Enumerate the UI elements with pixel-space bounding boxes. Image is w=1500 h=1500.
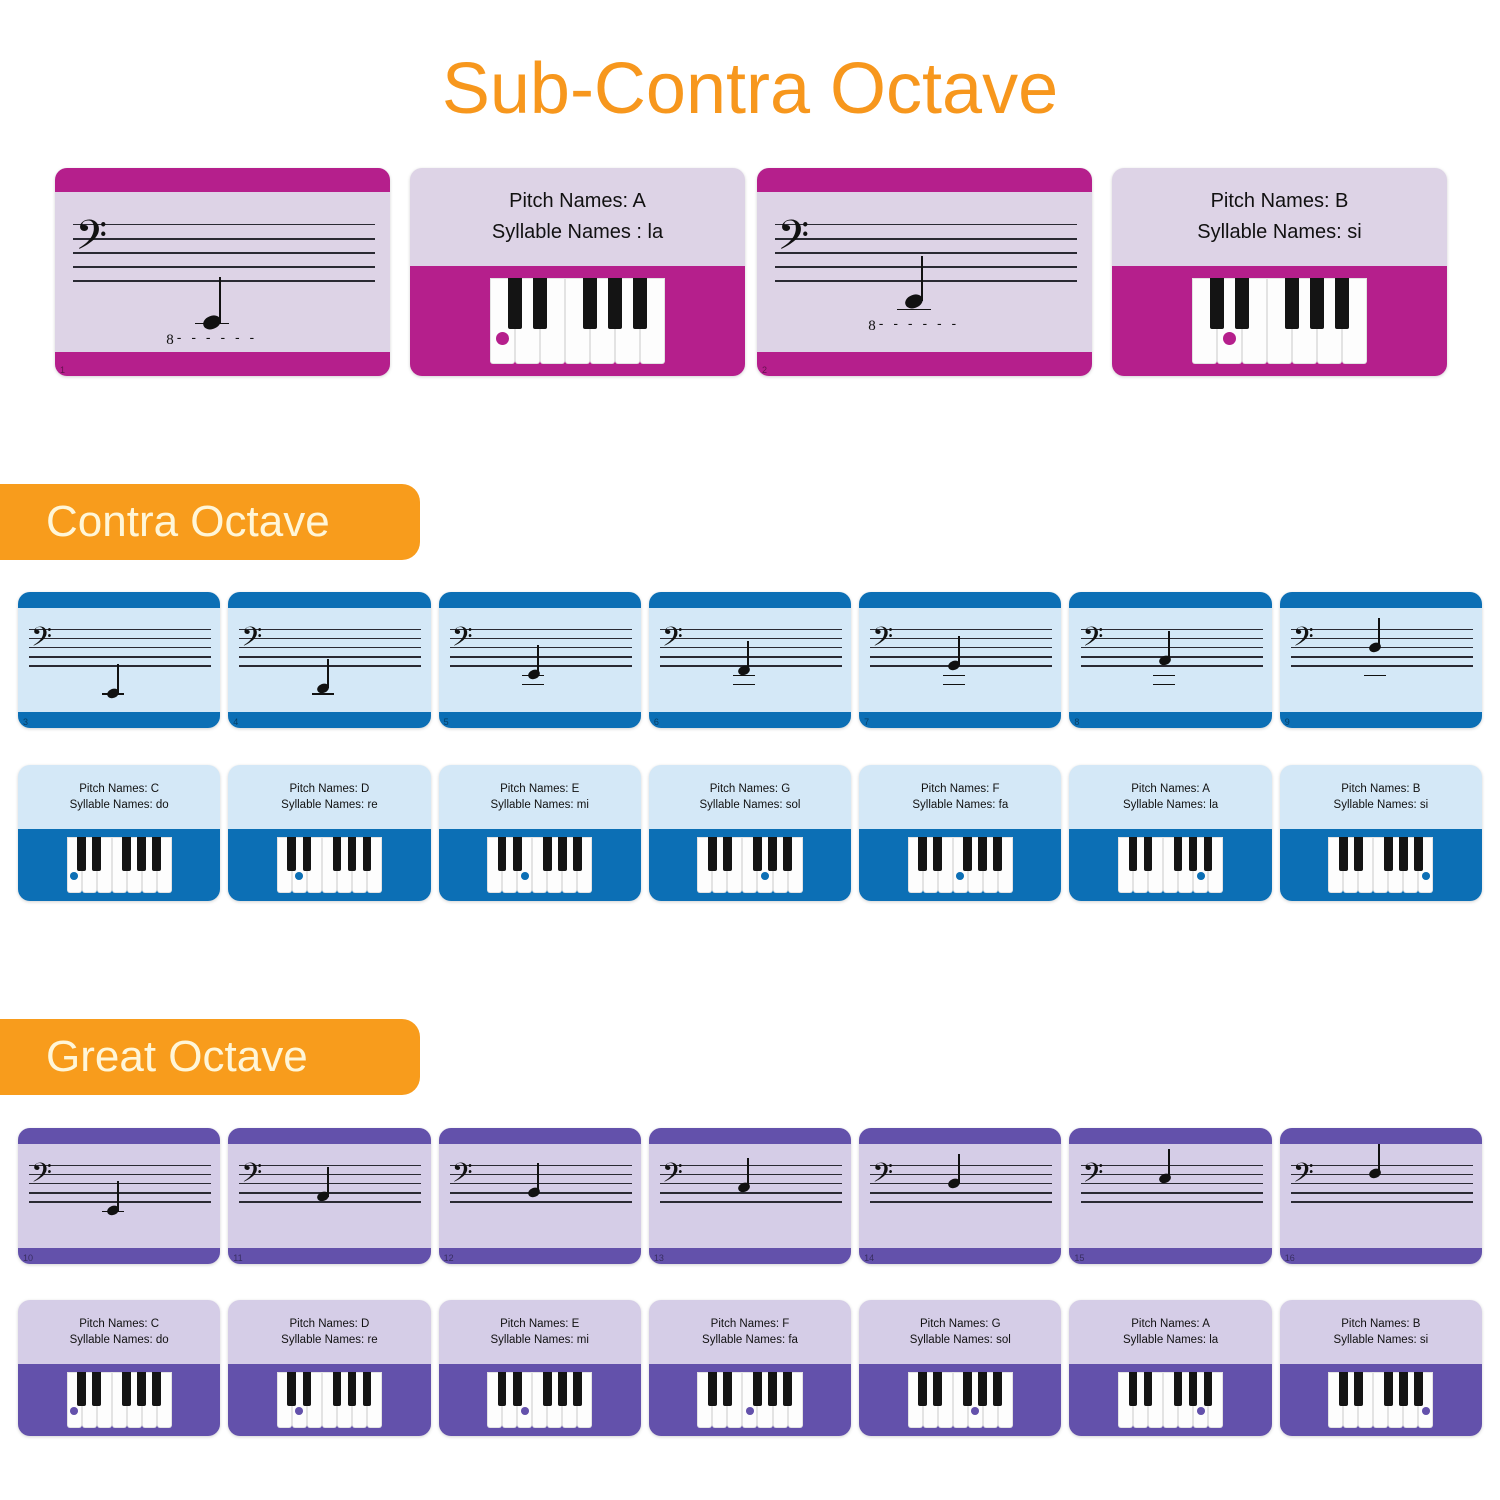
black-key[interactable] xyxy=(543,1372,552,1406)
pitch-names-line: Pitch Names: E xyxy=(500,1318,579,1330)
staff-line xyxy=(450,656,632,658)
card-band-bottom: 6 xyxy=(649,712,851,728)
section-banner-great: Great Octave xyxy=(0,1019,420,1095)
black-key[interactable] xyxy=(608,278,622,330)
piano-keyboard xyxy=(1328,1372,1433,1428)
black-key[interactable] xyxy=(1210,278,1224,330)
black-key[interactable] xyxy=(348,1372,357,1406)
pitch-card[interactable]: Pitch Names: FSyllable Names: fa xyxy=(859,765,1061,901)
pitch-names-line: Pitch Names: G xyxy=(710,783,791,795)
pitch-card[interactable]: Pitch Names: FSyllable Names: fa xyxy=(649,1300,851,1436)
pitch-card[interactable]: Pitch Names: BSyllable Names: si xyxy=(1280,1300,1482,1436)
black-key[interactable] xyxy=(287,1372,296,1406)
black-key[interactable] xyxy=(1384,837,1393,871)
key-highlight-dot xyxy=(761,872,769,880)
piano-keyboard xyxy=(1192,278,1366,364)
note-stem xyxy=(117,1181,119,1210)
black-key[interactable] xyxy=(768,837,777,871)
staff-card[interactable]: 𝄢6 xyxy=(649,592,851,728)
black-key[interactable] xyxy=(152,837,161,871)
keyboard-area xyxy=(18,829,220,901)
staff-area: 𝄢 xyxy=(18,1144,220,1249)
card-number: 16 xyxy=(1285,1254,1295,1263)
black-key[interactable] xyxy=(723,837,732,871)
note-stem xyxy=(117,664,119,693)
syllable-names-line: Syllable Names: sol xyxy=(910,1334,1011,1346)
card-band-top xyxy=(649,1128,851,1144)
pitch-text-area: Pitch Names: DSyllable Names: re xyxy=(228,1300,430,1364)
staff-line xyxy=(1081,1183,1263,1185)
staff-area: 𝄢 xyxy=(439,1144,641,1249)
pitch-card[interactable]: Pitch Names: ASyllable Names: la xyxy=(1069,1300,1271,1436)
syllable-names-line: Syllable Names: fa xyxy=(702,1334,798,1346)
staff-area: 𝄢 xyxy=(439,608,641,713)
pitch-text-area: Pitch Names: CSyllable Names: do xyxy=(18,1300,220,1364)
syllable-names-line: Syllable Names: si xyxy=(1197,221,1362,244)
pitch-names-line: Pitch Names: B xyxy=(1211,190,1349,213)
black-key[interactable] xyxy=(978,1372,987,1406)
staff-card[interactable]: 𝄢9 xyxy=(1280,592,1482,728)
ledger-line xyxy=(943,675,965,677)
black-key[interactable] xyxy=(1335,278,1349,330)
black-key[interactable] xyxy=(77,1372,86,1406)
pitch-text-area: Pitch Names: GSyllable Names: sol xyxy=(859,1300,1061,1364)
syllable-names-line: Syllable Names: re xyxy=(281,1334,378,1346)
black-key[interactable] xyxy=(753,1372,762,1406)
card-band-top xyxy=(18,592,220,608)
black-key[interactable] xyxy=(933,837,942,871)
black-key[interactable] xyxy=(1384,1372,1393,1406)
black-key[interactable] xyxy=(498,1372,507,1406)
card-band-top xyxy=(228,1128,430,1144)
bass-clef-icon: 𝄢 xyxy=(31,624,52,656)
staff-line xyxy=(870,1201,1052,1203)
syllable-names-line: Syllable Names: mi xyxy=(490,1334,588,1346)
music-staff: 𝄢 xyxy=(439,608,641,713)
ledger-line xyxy=(943,684,965,686)
staff-line xyxy=(660,1192,842,1194)
staff-card[interactable]: 𝄢16 xyxy=(1280,1128,1482,1264)
black-key[interactable] xyxy=(1354,837,1363,871)
staff-lines xyxy=(239,629,421,666)
piano-keyboard xyxy=(697,1372,802,1428)
syllable-names-line: Syllable Names: mi xyxy=(490,799,588,811)
black-key[interactable] xyxy=(1339,837,1348,871)
staff-line xyxy=(1291,665,1473,667)
pitch-text-area: Pitch Names: DSyllable Names: re xyxy=(228,765,430,829)
staff-lines xyxy=(660,1165,842,1202)
black-key[interactable] xyxy=(1285,278,1299,330)
black-key[interactable] xyxy=(1129,1372,1138,1406)
staff-line xyxy=(29,629,211,631)
pitch-card[interactable]: Pitch Names: ESyllable Names: mi xyxy=(439,1300,641,1436)
pitch-text-area: Pitch Names: BSyllable Names: si xyxy=(1280,765,1482,829)
pitch-names-line: Pitch Names: F xyxy=(921,783,1000,795)
pitch-names-line: Pitch Names: D xyxy=(289,1318,369,1330)
card-band-top xyxy=(1280,1128,1482,1144)
piano-keyboard xyxy=(490,278,664,364)
staff-lines xyxy=(1081,629,1263,666)
pitch-names-line: Pitch Names: C xyxy=(79,783,159,795)
staff-line xyxy=(29,1201,211,1203)
card-band-bottom: 11 xyxy=(228,1248,430,1264)
black-key[interactable] xyxy=(1235,278,1249,330)
bass-clef-icon: 𝄢 xyxy=(1293,624,1314,656)
black-key[interactable] xyxy=(1189,837,1198,871)
staff-line xyxy=(73,280,375,282)
card-band-bottom: 4 xyxy=(228,712,430,728)
section-banner-label: Great Octave xyxy=(46,1032,308,1082)
staff-line xyxy=(1291,638,1473,640)
ledger-line xyxy=(195,323,228,325)
pitch-card[interactable]: Pitch Names: DSyllable Names: re xyxy=(228,1300,430,1436)
keyboard-area xyxy=(649,1364,851,1436)
note-stem xyxy=(921,256,923,301)
staff-lines xyxy=(239,1165,421,1202)
music-staff: 𝄢 xyxy=(18,608,220,713)
ottava-marking: 8- - - - - - xyxy=(166,330,257,348)
ledger-line xyxy=(522,684,544,686)
note-stem xyxy=(327,659,329,688)
black-key[interactable] xyxy=(783,837,792,871)
black-key[interactable] xyxy=(1129,837,1138,871)
black-key[interactable] xyxy=(558,1372,567,1406)
staff-line xyxy=(775,280,1077,282)
bass-clef-icon: 𝄢 xyxy=(777,216,809,265)
black-key[interactable] xyxy=(1414,1372,1423,1406)
ottava-number: 8 xyxy=(166,332,174,348)
card-band-top xyxy=(439,1128,641,1144)
black-key[interactable] xyxy=(573,1372,582,1406)
note-stem xyxy=(1168,1149,1170,1178)
black-key[interactable] xyxy=(363,837,372,871)
black-key[interactable] xyxy=(287,837,296,871)
key-highlight-dot xyxy=(521,1407,529,1415)
staff-line xyxy=(660,647,842,649)
syllable-names-line: Syllable Names: si xyxy=(1334,1334,1429,1346)
pitch-card[interactable]: Pitch Names: GSyllable Names: sol xyxy=(649,765,851,901)
card-band-bottom: 14 xyxy=(859,1248,1061,1264)
black-key[interactable] xyxy=(723,1372,732,1406)
staff-line xyxy=(239,629,421,631)
key-highlight-dot xyxy=(70,1407,78,1415)
black-key[interactable] xyxy=(498,837,507,871)
staff-line xyxy=(29,1174,211,1176)
music-staff: 𝄢 xyxy=(1069,1144,1271,1249)
black-key[interactable] xyxy=(1174,837,1183,871)
staff-area: 𝄢8- - - - - - xyxy=(55,192,390,352)
staff-card[interactable]: 𝄢14 xyxy=(859,1128,1061,1264)
bass-clef-icon: 𝄢 xyxy=(75,216,107,265)
black-key[interactable] xyxy=(753,837,762,871)
staff-lines xyxy=(1291,1165,1473,1202)
piano-keyboard xyxy=(697,837,802,893)
bass-clef-icon: 𝄢 xyxy=(452,624,473,656)
staff-line xyxy=(660,656,842,658)
black-key[interactable] xyxy=(513,837,522,871)
staff-line xyxy=(1081,1192,1263,1194)
black-key[interactable] xyxy=(933,1372,942,1406)
black-key[interactable] xyxy=(1399,837,1408,871)
note-stem xyxy=(1378,1144,1380,1173)
pitch-card[interactable]: Pitch Names: BSyllable Names: si xyxy=(1280,765,1482,901)
pitch-names-line: Pitch Names: D xyxy=(289,783,369,795)
note-stem xyxy=(537,1163,539,1192)
bass-clef-icon: 𝄢 xyxy=(31,1160,52,1192)
staff-line xyxy=(239,647,421,649)
keyboard-area xyxy=(859,829,1061,901)
black-key[interactable] xyxy=(918,837,927,871)
staff-line xyxy=(775,266,1077,268)
music-staff: 𝄢 xyxy=(228,1144,430,1249)
pitch-names-line: Pitch Names: A xyxy=(1131,783,1210,795)
pitch-card[interactable]: Pitch Names: GSyllable Names: sol xyxy=(859,1300,1061,1436)
card-number: 3 xyxy=(23,718,28,727)
black-key[interactable] xyxy=(137,837,146,871)
pitch-card[interactable]: Pitch Names: BSyllable Names: si xyxy=(1112,168,1447,376)
black-key[interactable] xyxy=(363,1372,372,1406)
staff-line xyxy=(1291,1192,1473,1194)
staff-lines xyxy=(450,1165,632,1202)
black-key[interactable] xyxy=(583,278,597,330)
staff-line xyxy=(239,638,421,640)
pitch-text-area: Pitch Names: GSyllable Names: sol xyxy=(649,765,851,829)
card-band-bottom: 1 xyxy=(55,352,390,376)
piano-keyboard xyxy=(908,837,1013,893)
staff-line xyxy=(73,266,375,268)
black-key[interactable] xyxy=(708,1372,717,1406)
black-key[interactable] xyxy=(1414,837,1423,871)
syllable-names-line: Syllable Names: re xyxy=(281,799,378,811)
pitch-text-area: Pitch Names: ASyllable Names: la xyxy=(1069,1300,1271,1364)
pitch-card[interactable]: Pitch Names: CSyllable Names: do xyxy=(18,765,220,901)
staff-area: 𝄢 xyxy=(228,1144,430,1249)
piano-keyboard xyxy=(277,837,382,893)
black-key[interactable] xyxy=(533,278,547,330)
staff-lines xyxy=(870,1165,1052,1202)
black-key[interactable] xyxy=(77,837,86,871)
keyboard-area xyxy=(439,1364,641,1436)
staff-line xyxy=(1291,1174,1473,1176)
card-band-top xyxy=(1280,592,1482,608)
staff-line xyxy=(450,638,632,640)
black-key[interactable] xyxy=(1354,1372,1363,1406)
staff-line xyxy=(29,1183,211,1185)
pitch-card[interactable]: Pitch Names: ASyllable Names: la xyxy=(1069,765,1271,901)
card-number: 13 xyxy=(654,1254,664,1263)
black-key[interactable] xyxy=(543,837,552,871)
staff-line xyxy=(870,656,1052,658)
card-number: 2 xyxy=(762,366,767,375)
ledger-line xyxy=(102,1211,124,1213)
black-key[interactable] xyxy=(1144,837,1153,871)
ottava-dashes: - - - - - - xyxy=(879,316,959,330)
staff-area: 𝄢 xyxy=(18,608,220,713)
staff-area: 𝄢 xyxy=(649,608,851,713)
pitch-text-area: Pitch Names: BSyllable Names: si xyxy=(1112,168,1447,266)
staff-lines xyxy=(29,629,211,666)
keyboard-area xyxy=(228,1364,430,1436)
flashcard-poster: Sub-Contra Octave 𝄢8- - - - - -1Pitch Na… xyxy=(0,0,1500,1500)
black-key[interactable] xyxy=(963,1372,972,1406)
note-stem xyxy=(958,1154,960,1183)
card-band-bottom: 15 xyxy=(1069,1248,1271,1264)
staff-lines xyxy=(660,629,842,666)
piano-keyboard xyxy=(67,1372,172,1428)
staff-card[interactable]: 𝄢12 xyxy=(439,1128,641,1264)
card-band-top xyxy=(55,168,390,192)
ledger-line xyxy=(897,309,930,311)
staff-card[interactable]: 𝄢10 xyxy=(18,1128,220,1264)
black-key[interactable] xyxy=(122,1372,131,1406)
staff-card[interactable]: 𝄢3 xyxy=(18,592,220,728)
black-key[interactable] xyxy=(1339,1372,1348,1406)
black-key[interactable] xyxy=(92,837,101,871)
black-key[interactable] xyxy=(1310,278,1324,330)
note-stem xyxy=(1168,631,1170,660)
staff-lines xyxy=(1081,1165,1263,1202)
black-key[interactable] xyxy=(513,1372,522,1406)
staff-lines xyxy=(73,224,375,280)
ledger-line xyxy=(733,675,755,677)
black-key[interactable] xyxy=(348,837,357,871)
staff-line xyxy=(660,1183,842,1185)
staff-line xyxy=(1081,638,1263,640)
black-key[interactable] xyxy=(303,837,312,871)
black-key[interactable] xyxy=(573,837,582,871)
black-key[interactable] xyxy=(978,837,987,871)
staff-line xyxy=(870,1165,1052,1167)
black-key[interactable] xyxy=(152,1372,161,1406)
staff-card[interactable]: 𝄢8 xyxy=(1069,592,1271,728)
music-staff: 𝄢 xyxy=(1069,608,1271,713)
note-stem xyxy=(327,1167,329,1196)
black-key[interactable] xyxy=(137,1372,146,1406)
card-band-bottom: 5 xyxy=(439,712,641,728)
staff-line xyxy=(660,629,842,631)
ottava-number: 8 xyxy=(868,318,876,334)
staff-card[interactable]: 𝄢15 xyxy=(1069,1128,1271,1264)
ledger-line xyxy=(1153,684,1175,686)
staff-line xyxy=(73,252,375,254)
staff-line xyxy=(1081,1201,1263,1203)
black-key[interactable] xyxy=(1204,1372,1213,1406)
bass-clef-icon: 𝄢 xyxy=(1083,1160,1104,1192)
syllable-names-line: Syllable Names: sol xyxy=(699,799,800,811)
card-band-bottom: 12 xyxy=(439,1248,641,1264)
staff-line xyxy=(775,238,1077,240)
black-key[interactable] xyxy=(768,1372,777,1406)
card-number: 11 xyxy=(233,1254,242,1263)
black-key[interactable] xyxy=(1174,1372,1183,1406)
black-key[interactable] xyxy=(1144,1372,1153,1406)
staff-line xyxy=(660,638,842,640)
pitch-names-line: Pitch Names: G xyxy=(920,1318,1001,1330)
black-key[interactable] xyxy=(1399,1372,1408,1406)
staff-card[interactable]: 𝄢13 xyxy=(649,1128,851,1264)
pitch-card[interactable]: Pitch Names: CSyllable Names: do xyxy=(18,1300,220,1436)
keyboard-area xyxy=(1280,1364,1482,1436)
staff-line xyxy=(870,629,1052,631)
pitch-names-line: Pitch Names: E xyxy=(500,783,579,795)
syllable-names-line: Syllable Names: do xyxy=(70,1334,169,1346)
section-banner-label: Contra Octave xyxy=(46,497,330,547)
staff-line xyxy=(450,647,632,649)
section-banner-contra: Contra Octave xyxy=(0,484,420,560)
staff-line xyxy=(29,1192,211,1194)
keyboard-area xyxy=(1069,829,1271,901)
card-band-bottom: 9 xyxy=(1280,712,1482,728)
staff-line xyxy=(29,647,211,649)
staff-area: 𝄢 xyxy=(859,1144,1061,1249)
staff-line xyxy=(1291,1165,1473,1167)
staff-line xyxy=(775,224,1077,226)
music-staff: 𝄢 xyxy=(1280,1144,1482,1249)
pitch-card[interactable]: Pitch Names: ASyllable Names : la xyxy=(410,168,745,376)
staff-line xyxy=(450,629,632,631)
pitch-card[interactable]: Pitch Names: ESyllable Names: mi xyxy=(439,765,641,901)
black-key[interactable] xyxy=(333,837,342,871)
staff-card[interactable]: 𝄢7 xyxy=(859,592,1061,728)
staff-line xyxy=(1081,1165,1263,1167)
black-key[interactable] xyxy=(963,837,972,871)
piano-keyboard xyxy=(487,1372,592,1428)
staff-card[interactable]: 𝄢11 xyxy=(228,1128,430,1264)
pitch-card[interactable]: Pitch Names: DSyllable Names: re xyxy=(228,765,430,901)
black-key[interactable] xyxy=(633,278,647,330)
staff-line xyxy=(239,1174,421,1176)
key-highlight-dot xyxy=(70,872,78,880)
black-key[interactable] xyxy=(708,837,717,871)
black-key[interactable] xyxy=(918,1372,927,1406)
staff-card[interactable]: 𝄢8- - - - - -2 xyxy=(757,168,1092,376)
black-key[interactable] xyxy=(508,278,522,330)
card-band-top xyxy=(1069,592,1271,608)
black-key[interactable] xyxy=(1204,837,1213,871)
ottava-marking: 8- - - - - - xyxy=(868,316,959,334)
black-key[interactable] xyxy=(1189,1372,1198,1406)
card-band-top xyxy=(649,592,851,608)
black-key[interactable] xyxy=(783,1372,792,1406)
black-key[interactable] xyxy=(558,837,567,871)
black-key[interactable] xyxy=(92,1372,101,1406)
pitch-text-area: Pitch Names: ESyllable Names: mi xyxy=(439,1300,641,1364)
staff-line xyxy=(660,1201,842,1203)
black-key[interactable] xyxy=(303,1372,312,1406)
staff-card[interactable]: 𝄢5 xyxy=(439,592,641,728)
black-key[interactable] xyxy=(122,837,131,871)
staff-card[interactable]: 𝄢4 xyxy=(228,592,430,728)
page-title: Sub-Contra Octave xyxy=(0,48,1500,130)
staff-line xyxy=(239,656,421,658)
ottava-dashes: - - - - - - xyxy=(177,330,257,344)
black-key[interactable] xyxy=(993,837,1002,871)
black-key[interactable] xyxy=(993,1372,1002,1406)
card-band-top xyxy=(859,1128,1061,1144)
staff-card[interactable]: 𝄢8- - - - - -1 xyxy=(55,168,390,376)
piano-keyboard xyxy=(1118,1372,1223,1428)
card-band-bottom: 2 xyxy=(757,352,1092,376)
card-number: 5 xyxy=(444,718,449,727)
staff-lines xyxy=(450,629,632,666)
black-key[interactable] xyxy=(333,1372,342,1406)
key-highlight-dot xyxy=(1422,1407,1430,1415)
staff-line xyxy=(239,665,421,667)
key-highlight-dot xyxy=(496,332,509,345)
staff-line xyxy=(775,252,1077,254)
staff-line xyxy=(1081,629,1263,631)
key-highlight-dot xyxy=(746,1407,754,1415)
